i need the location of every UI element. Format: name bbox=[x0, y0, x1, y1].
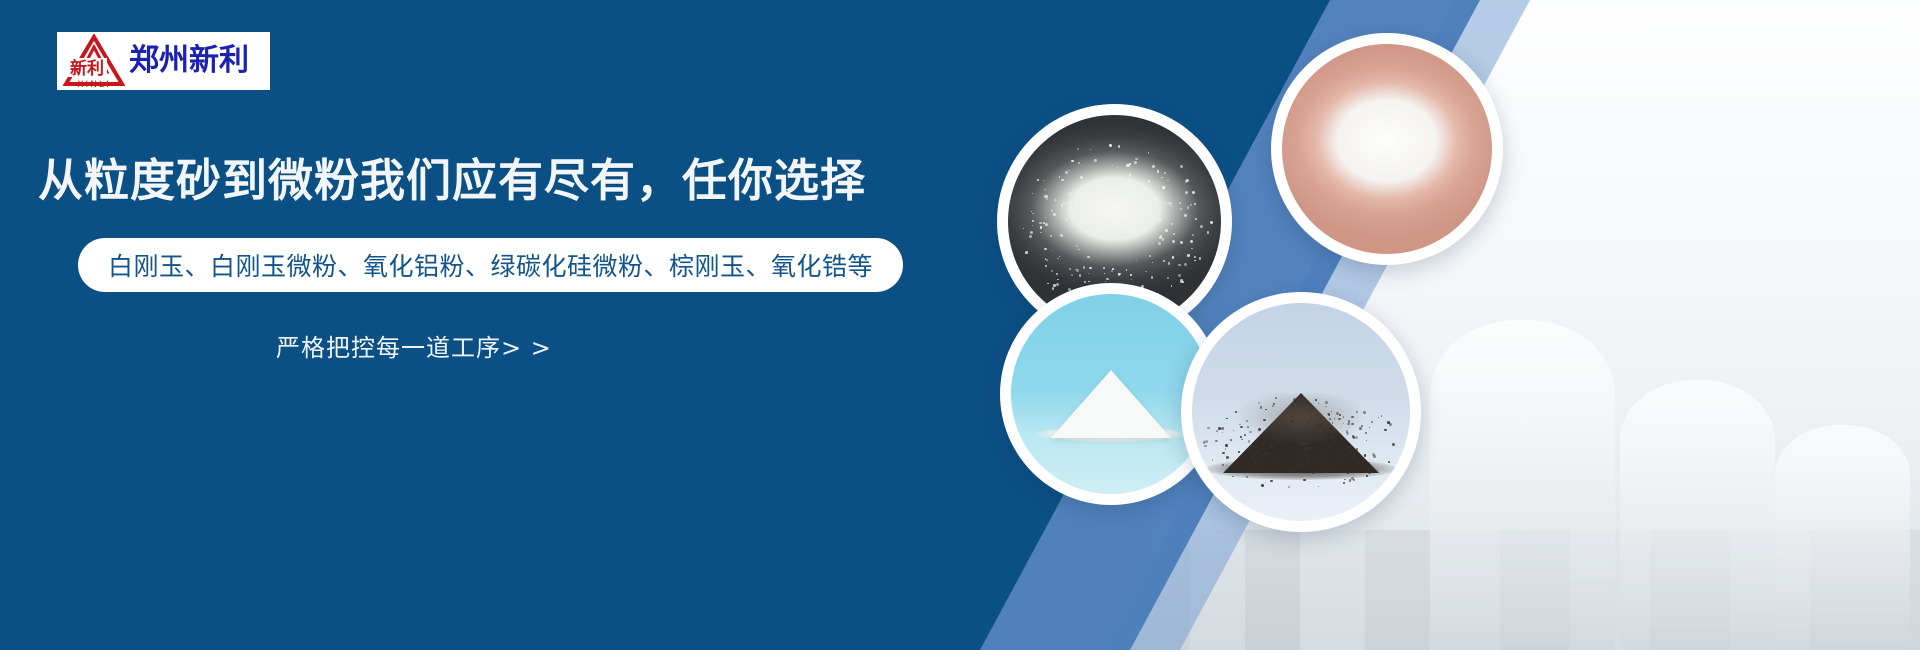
grit-speck bbox=[1329, 418, 1331, 420]
grit-speck bbox=[1381, 415, 1383, 417]
grit-speck bbox=[1204, 445, 1207, 448]
grit-speck bbox=[1044, 189, 1046, 191]
grit-speck bbox=[1103, 177, 1105, 179]
grit-speck bbox=[1392, 443, 1395, 446]
grit-speck bbox=[1347, 472, 1349, 474]
grit-speck bbox=[1148, 152, 1150, 154]
grit-speck bbox=[1040, 232, 1041, 233]
grit-speck bbox=[1291, 415, 1294, 418]
grit-speck bbox=[1083, 266, 1085, 268]
grit-speck bbox=[1278, 456, 1280, 458]
grit-speck bbox=[1171, 206, 1172, 207]
logo-wordmark: 郑州新利 bbox=[129, 46, 249, 76]
xinli-triangle-icon: 新利 XINLI bbox=[63, 34, 125, 88]
grit-speck bbox=[1161, 177, 1162, 178]
grit-speck bbox=[1194, 260, 1196, 262]
grit-speck bbox=[1292, 451, 1293, 452]
grit-speck bbox=[1078, 249, 1079, 250]
grit-speck bbox=[1300, 464, 1303, 467]
grit-speck bbox=[1184, 214, 1187, 217]
grit-speck bbox=[1080, 195, 1082, 197]
grit-speck bbox=[1076, 245, 1078, 247]
grit-speck bbox=[1351, 477, 1354, 480]
grit-speck bbox=[1047, 283, 1048, 284]
grit-speck bbox=[1075, 202, 1078, 205]
grit-speck bbox=[1089, 267, 1092, 270]
svg-text:新利: 新利 bbox=[70, 58, 104, 79]
grit-speck bbox=[1129, 175, 1130, 176]
grit-speck bbox=[1286, 437, 1287, 438]
grit-speck bbox=[1173, 233, 1175, 235]
grit-speck bbox=[1325, 401, 1328, 404]
grit-speck bbox=[1319, 424, 1322, 427]
grit-speck bbox=[1162, 186, 1164, 188]
grit-speck bbox=[1306, 402, 1307, 403]
grit-speck bbox=[1023, 228, 1024, 229]
grit-speck bbox=[1157, 204, 1158, 205]
grit-speck bbox=[1325, 406, 1327, 408]
grit-speck bbox=[1069, 192, 1072, 195]
grit-speck bbox=[1094, 159, 1097, 162]
grit-speck bbox=[1318, 438, 1320, 440]
grit-speck bbox=[1167, 277, 1169, 279]
grit-speck bbox=[1165, 229, 1167, 231]
grit-speck bbox=[1261, 484, 1264, 487]
page-title: 从粒度砂到微粉我们应有尽有，任你选择 bbox=[38, 144, 866, 209]
product-image-dark-grit[interactable] bbox=[1181, 292, 1421, 532]
grit-speck bbox=[1343, 416, 1344, 417]
grit-speck bbox=[1032, 220, 1034, 222]
grit-speck bbox=[1032, 213, 1034, 215]
grit-speck bbox=[1247, 426, 1249, 428]
grit-speck bbox=[1057, 279, 1059, 281]
cta-link[interactable]: 严格把控每一道工序> > bbox=[276, 328, 552, 363]
grit-speck bbox=[1164, 172, 1166, 174]
grit-speck bbox=[1371, 421, 1373, 423]
grit-speck bbox=[1194, 203, 1196, 205]
grit-speck bbox=[1257, 466, 1259, 468]
grit-speck bbox=[1300, 413, 1302, 415]
grit-speck bbox=[1045, 223, 1048, 226]
grit-speck bbox=[1190, 204, 1192, 206]
grit-speck bbox=[1065, 218, 1067, 220]
grit-speck bbox=[1111, 270, 1113, 272]
grit-speck bbox=[1384, 429, 1387, 432]
grit-speck bbox=[1186, 179, 1189, 182]
grit-speck bbox=[1052, 250, 1053, 251]
grit-speck bbox=[1168, 262, 1170, 264]
grit-speck bbox=[1052, 287, 1054, 289]
grit-speck bbox=[1051, 270, 1054, 273]
grit-speck bbox=[1152, 165, 1155, 168]
grit-speck bbox=[1118, 145, 1121, 148]
grit-speck bbox=[1078, 162, 1080, 164]
grit-speck bbox=[1343, 455, 1345, 457]
grit-speck bbox=[1261, 463, 1263, 465]
grit-speck bbox=[1039, 222, 1041, 224]
grit-speck bbox=[1076, 269, 1079, 272]
svg-text:XINLI: XINLI bbox=[77, 80, 110, 88]
grit-speck bbox=[1207, 231, 1210, 234]
product-photo bbox=[1282, 44, 1492, 254]
grit-speck bbox=[1158, 218, 1161, 221]
grit-speck bbox=[1364, 454, 1367, 457]
grit-speck bbox=[1272, 405, 1274, 407]
grit-speck bbox=[1178, 264, 1181, 267]
grit-speck bbox=[1126, 269, 1128, 271]
grit-speck bbox=[1037, 179, 1039, 181]
grit-speck bbox=[1190, 240, 1193, 243]
grit-speck bbox=[1255, 446, 1257, 448]
grit-speck bbox=[1192, 191, 1195, 194]
grit-speck bbox=[1340, 454, 1342, 456]
grit-speck bbox=[1059, 176, 1061, 178]
product-image-white-powder[interactable] bbox=[1271, 33, 1503, 265]
grit-speck bbox=[1043, 180, 1044, 181]
grit-speck bbox=[1136, 260, 1138, 262]
grit-speck bbox=[1369, 462, 1370, 463]
grit-speck bbox=[1045, 265, 1047, 267]
grit-speck bbox=[1152, 181, 1153, 182]
grit-speck bbox=[1163, 260, 1165, 262]
grit-speck bbox=[1334, 418, 1335, 419]
grit-speck bbox=[1135, 158, 1137, 160]
grit-speck bbox=[1289, 470, 1291, 472]
grit-speck bbox=[1271, 423, 1273, 425]
grit-speck bbox=[1329, 445, 1330, 446]
grit-speck bbox=[1301, 436, 1302, 437]
grit-speck bbox=[1315, 399, 1317, 401]
grit-speck bbox=[1261, 450, 1262, 451]
grit-speck bbox=[1343, 482, 1345, 484]
grit-speck bbox=[1240, 464, 1242, 466]
grit-speck bbox=[1061, 179, 1064, 182]
grit-speck bbox=[1207, 427, 1210, 430]
grit-speck bbox=[1349, 479, 1351, 481]
grit-speck bbox=[1265, 482, 1266, 483]
grit-speck bbox=[1044, 248, 1047, 251]
grit-speck bbox=[1025, 251, 1028, 254]
grit-speck bbox=[1252, 445, 1253, 446]
grit-speck bbox=[1146, 196, 1147, 197]
grit-speck bbox=[1045, 217, 1046, 218]
grit-speck bbox=[1171, 285, 1173, 287]
grit-speck bbox=[1071, 160, 1073, 162]
grit-speck bbox=[1203, 441, 1205, 443]
grit-speck bbox=[1288, 486, 1290, 488]
grit-speck bbox=[1276, 462, 1278, 464]
grit-speck bbox=[1083, 186, 1084, 187]
grit-speck bbox=[1046, 198, 1048, 200]
grit-speck bbox=[1192, 234, 1193, 235]
grit-speck bbox=[1157, 170, 1159, 172]
grit-speck bbox=[1344, 479, 1345, 480]
grit-speck bbox=[1104, 273, 1105, 274]
grit-speck bbox=[1090, 149, 1091, 150]
grit-speck bbox=[1171, 223, 1173, 225]
promo-banner: 新利 XINLI 郑州新利 从粒度砂到微粉我们应有尽有，任你选择 白刚玉、白刚玉… bbox=[0, 0, 1920, 650]
grit-speck bbox=[1130, 274, 1132, 276]
grit-speck bbox=[1210, 221, 1213, 224]
grit-speck bbox=[1324, 430, 1326, 432]
grit-speck bbox=[1318, 458, 1320, 460]
grit-speck bbox=[1126, 164, 1129, 167]
grit-speck bbox=[1254, 460, 1257, 463]
grit-speck bbox=[1080, 176, 1083, 179]
grit-speck bbox=[1061, 204, 1064, 207]
grit-speck bbox=[1106, 278, 1108, 280]
product-list-text: 白刚玉、白刚玉微粉、氧化铝粉、绿碳化硅微粉、棕刚玉、氧化锆等 bbox=[108, 247, 873, 283]
grit-speck bbox=[1303, 479, 1306, 482]
grit-speck bbox=[1311, 409, 1312, 410]
grit-speck bbox=[1088, 273, 1089, 274]
grit-speck bbox=[1126, 184, 1128, 186]
grit-speck bbox=[1118, 273, 1121, 276]
grit-speck bbox=[1152, 262, 1153, 263]
grit-speck bbox=[1069, 268, 1071, 270]
grit-speck bbox=[1230, 439, 1232, 441]
grit-speck bbox=[1291, 420, 1294, 423]
grit-speck bbox=[1316, 434, 1317, 435]
grit-speck bbox=[1212, 459, 1213, 460]
grit-speck bbox=[1088, 281, 1090, 283]
grit-speck bbox=[1222, 464, 1224, 466]
grit-speck bbox=[1262, 443, 1265, 446]
grit-speck bbox=[1274, 427, 1276, 429]
grit-speck bbox=[1180, 279, 1183, 282]
grit-speck bbox=[1131, 279, 1132, 280]
grit-speck bbox=[1143, 187, 1145, 189]
grit-speck bbox=[1145, 271, 1147, 273]
grit-speck bbox=[1079, 274, 1082, 277]
logo[interactable]: 新利 XINLI 郑州新利 bbox=[57, 32, 270, 90]
grit-speck bbox=[1178, 274, 1181, 277]
grit-speck bbox=[1366, 475, 1368, 477]
grit-speck bbox=[1187, 254, 1190, 257]
grit-speck bbox=[1168, 202, 1171, 205]
grit-speck bbox=[1094, 181, 1096, 183]
grit-speck bbox=[1065, 171, 1068, 174]
grit-speck bbox=[1153, 198, 1155, 200]
grit-speck bbox=[1184, 263, 1187, 266]
grit-speck bbox=[1388, 461, 1390, 463]
grit-speck bbox=[1060, 234, 1063, 237]
grit-speck bbox=[1163, 210, 1164, 211]
grit-speck bbox=[1081, 200, 1083, 202]
grit-speck bbox=[1389, 423, 1392, 426]
grit-speck bbox=[1315, 438, 1317, 440]
grit-speck bbox=[1103, 267, 1105, 269]
grit-speck bbox=[1343, 448, 1345, 450]
grit-speck bbox=[1275, 397, 1277, 399]
grit-speck bbox=[1280, 443, 1282, 445]
grit-speck bbox=[1080, 165, 1081, 166]
grit-speck bbox=[1087, 256, 1090, 259]
grit-speck bbox=[1185, 191, 1188, 194]
grit-speck bbox=[1200, 225, 1203, 228]
grit-speck bbox=[1084, 281, 1086, 283]
grit-speck bbox=[1055, 199, 1056, 200]
grit-speck bbox=[1053, 213, 1056, 216]
grit-speck bbox=[1331, 436, 1334, 439]
grit-speck bbox=[1195, 218, 1196, 219]
grit-speck bbox=[1069, 201, 1070, 202]
grit-speck bbox=[1299, 442, 1302, 445]
grit-speck bbox=[1251, 456, 1254, 459]
grit-speck bbox=[1180, 241, 1183, 244]
grit-speck bbox=[1071, 274, 1073, 276]
grit-speck bbox=[1095, 186, 1098, 189]
grit-speck bbox=[1187, 206, 1190, 209]
grit-speck bbox=[1032, 225, 1033, 226]
grit-speck bbox=[1148, 180, 1150, 182]
grit-speck bbox=[1283, 446, 1284, 447]
grit-speck bbox=[1180, 208, 1182, 210]
grit-speck bbox=[1191, 248, 1192, 249]
grit-speck bbox=[1205, 440, 1208, 443]
grit-speck bbox=[1355, 436, 1358, 439]
grit-speck bbox=[1327, 413, 1329, 415]
grit-speck bbox=[1120, 175, 1121, 176]
grit-speck bbox=[1258, 428, 1261, 431]
product-list-pill[interactable]: 白刚玉、白刚玉微粉、氧化铝粉、绿碳化硅微粉、棕刚玉、氧化锆等 bbox=[78, 238, 903, 292]
grit-speck bbox=[1318, 486, 1319, 487]
grit-speck bbox=[1077, 148, 1079, 150]
grit-speck bbox=[1276, 440, 1279, 443]
grit-speck bbox=[1179, 202, 1181, 204]
grit-speck bbox=[1030, 231, 1033, 234]
grit-speck bbox=[1194, 256, 1197, 259]
grit-speck bbox=[1056, 273, 1059, 276]
grit-speck bbox=[1180, 165, 1183, 168]
grit-speck bbox=[1321, 417, 1322, 418]
grit-speck bbox=[1268, 458, 1269, 459]
grit-speck bbox=[1366, 440, 1367, 441]
grit-speck bbox=[1260, 406, 1263, 409]
grit-speck bbox=[1232, 476, 1234, 478]
grit-speck bbox=[1303, 449, 1306, 452]
grit-speck bbox=[1311, 446, 1313, 448]
grit-speck bbox=[1325, 468, 1328, 471]
grit-speck bbox=[1172, 256, 1174, 258]
grit-speck bbox=[1285, 427, 1286, 428]
grit-speck bbox=[1057, 258, 1059, 260]
grit-speck bbox=[1290, 436, 1292, 438]
grit-speck bbox=[1112, 165, 1113, 166]
grit-speck bbox=[1249, 431, 1252, 434]
grit-speck bbox=[1165, 202, 1167, 204]
grit-speck bbox=[1158, 185, 1159, 186]
grit-speck bbox=[1199, 257, 1202, 260]
grit-speck bbox=[1134, 161, 1137, 164]
grit-speck bbox=[1086, 190, 1089, 193]
grit-speck bbox=[1117, 166, 1119, 168]
grit-speck bbox=[1158, 242, 1161, 245]
grit-speck bbox=[1032, 193, 1033, 194]
grit-speck bbox=[1238, 451, 1240, 453]
grit-speck bbox=[1324, 417, 1326, 419]
grit-speck bbox=[1059, 256, 1060, 257]
grit-speck bbox=[1265, 452, 1267, 454]
grit-speck bbox=[1187, 209, 1188, 210]
product-photo bbox=[1011, 294, 1211, 494]
grit-speck bbox=[1332, 453, 1333, 454]
grit-speck bbox=[1029, 235, 1032, 238]
grit-speck bbox=[1128, 186, 1130, 188]
grit-speck bbox=[1162, 238, 1164, 240]
grit-speck bbox=[1270, 480, 1272, 482]
grit-speck bbox=[1056, 283, 1059, 286]
powder-cone bbox=[1051, 370, 1171, 438]
grit-speck bbox=[1151, 276, 1154, 279]
grit-speck bbox=[1248, 440, 1250, 442]
grit-speck bbox=[1109, 144, 1112, 147]
grit-speck bbox=[1299, 456, 1302, 459]
product-photo bbox=[1192, 303, 1410, 521]
grit-speck bbox=[1149, 255, 1151, 257]
grit-speck bbox=[1066, 220, 1067, 221]
grit-speck bbox=[1240, 426, 1242, 428]
grit-speck bbox=[1172, 240, 1175, 243]
grit-speck bbox=[1068, 170, 1069, 171]
grit-speck bbox=[1307, 402, 1308, 403]
grit-speck bbox=[1307, 421, 1309, 423]
grit-speck bbox=[1351, 416, 1353, 418]
grit-speck bbox=[1351, 423, 1354, 426]
grit-speck bbox=[1050, 235, 1052, 237]
grit-speck bbox=[1308, 434, 1310, 436]
grit-speck bbox=[1046, 259, 1048, 261]
grit-speck bbox=[1040, 226, 1042, 228]
grit-speck bbox=[1348, 445, 1351, 448]
grit-speck bbox=[1051, 209, 1053, 211]
grit-speck bbox=[1159, 236, 1162, 239]
grit-speck bbox=[1216, 430, 1218, 432]
grit-speck bbox=[1167, 180, 1168, 181]
grit-speck bbox=[1356, 448, 1358, 450]
grit-speck bbox=[1146, 197, 1148, 199]
grit-speck bbox=[1063, 202, 1065, 204]
grit-speck bbox=[1158, 210, 1160, 212]
